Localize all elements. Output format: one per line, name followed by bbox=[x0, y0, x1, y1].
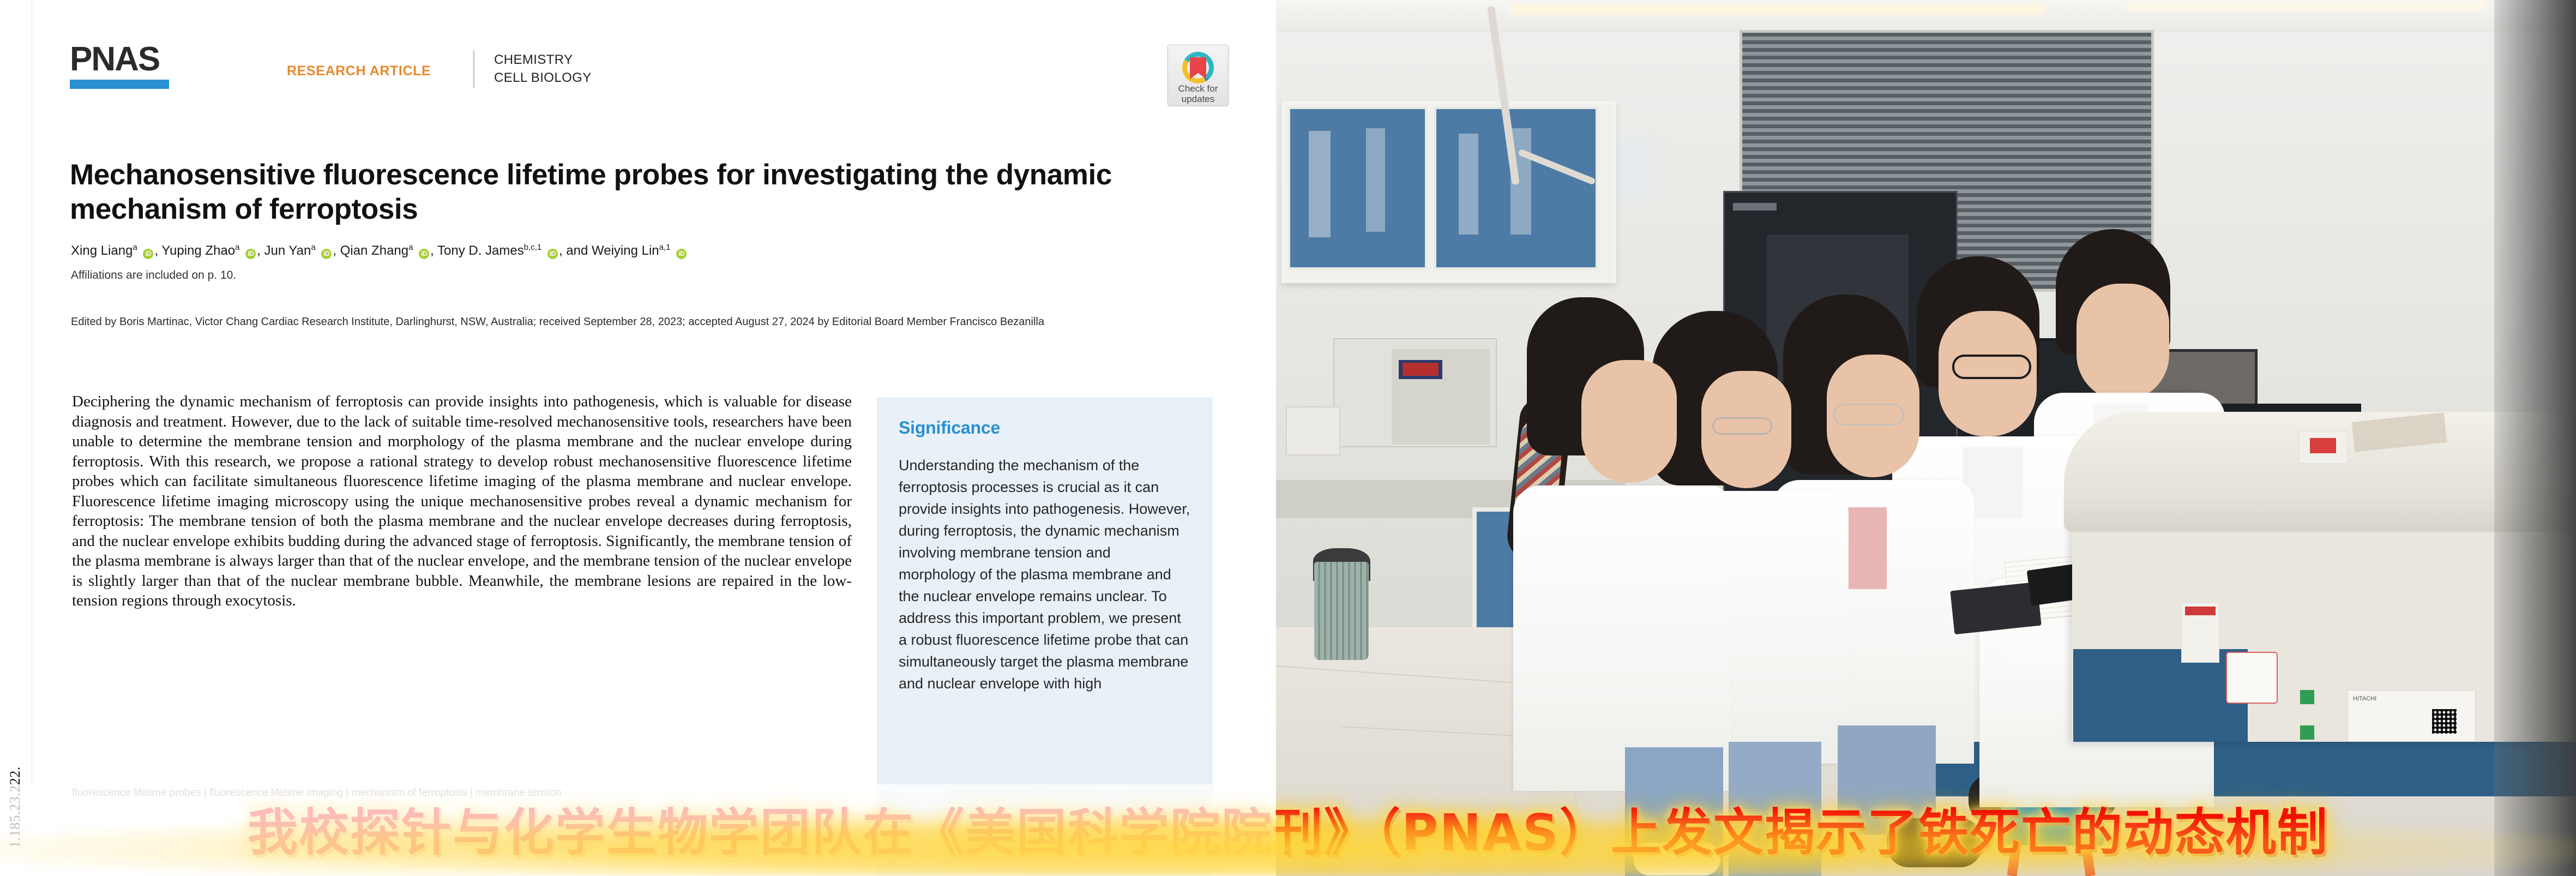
mouse-pad bbox=[1950, 582, 2041, 634]
pnas-wordmark: PNAS bbox=[70, 43, 173, 76]
keyword-list: fluorescence lifetime probes | fluoresce… bbox=[72, 785, 852, 800]
student-2-glasses-icon bbox=[1712, 417, 1772, 435]
instrument-blue-band bbox=[2073, 649, 2248, 742]
author-list: Xing Lianga iD, Yuping Zhaoa iD, Jun Yan… bbox=[71, 239, 1194, 260]
cabinet-glass-3 bbox=[1459, 134, 1478, 235]
ceiling-light-secondary-icon bbox=[2127, 1, 2487, 11]
cabinet-glass-1 bbox=[1309, 131, 1331, 237]
cabinet-glass-2 bbox=[1366, 128, 1385, 232]
instrument-led-1 bbox=[2300, 690, 2314, 704]
student-3-inner-top bbox=[1843, 507, 1887, 589]
crossmark-line2: updates bbox=[1168, 94, 1228, 104]
instrument-sticker-2 bbox=[2226, 652, 2278, 704]
instrument-sticker-1 bbox=[2181, 603, 2219, 663]
significance-box: Significance Understanding the mechanism… bbox=[877, 397, 1213, 876]
crossmark-line1: Check for bbox=[1168, 83, 1228, 94]
abstract-text: Deciphering the dynamic mechanism of fer… bbox=[72, 392, 852, 611]
student-4-glasses-icon bbox=[1952, 355, 2031, 379]
crossmark-label: Check for updates bbox=[1168, 83, 1228, 104]
subject-cell-biology[interactable]: CELL BIOLOGY bbox=[494, 69, 592, 87]
significance-heading: Significance bbox=[899, 418, 1191, 438]
pnas-logo[interactable]: PNAS bbox=[70, 43, 173, 89]
article-type-kicker: RESEARCH ARTICLE bbox=[287, 63, 431, 79]
ceiling-light-icon bbox=[1510, 3, 2045, 15]
kicker-divider bbox=[473, 50, 474, 88]
article-title: Mechanosensitive fluorescence lifetime p… bbox=[70, 158, 1193, 226]
masthead: PNAS RESEARCH ARTICLE CHEMISTRY CELL BIO… bbox=[70, 33, 1204, 98]
equipment-rack-label bbox=[1733, 203, 1777, 211]
pnas-blue-rule bbox=[70, 80, 169, 89]
student-5-face bbox=[2077, 284, 2169, 401]
subject-chemistry[interactable]: CHEMISTRY bbox=[494, 51, 592, 69]
student-1-lab-coat bbox=[1513, 485, 1731, 791]
student-1-shoes bbox=[1633, 843, 1720, 875]
student-3-shoes bbox=[1887, 818, 1982, 867]
significance-body: Understanding the mechanism of the ferro… bbox=[899, 454, 1191, 694]
instrument-brand-text: HITACHI bbox=[2353, 695, 2376, 703]
instrument-led-2 bbox=[2300, 725, 2314, 740]
editor-note: Edited by Boris Martinac, Victor Chang C… bbox=[71, 314, 1202, 330]
pnas-article-page: 1.185.23.222. PNAS RESEARCH ARTICLE CHEM… bbox=[0, 0, 1276, 876]
test-tube-rack bbox=[1286, 406, 1340, 455]
subject-list: CHEMISTRY CELL BIOLOGY bbox=[494, 51, 592, 87]
crossmark-badge[interactable]: Check for updates bbox=[1167, 45, 1229, 106]
qr-code-icon bbox=[2432, 709, 2457, 734]
red-label-on-instrument bbox=[2298, 431, 2348, 464]
student-2-jeans bbox=[1729, 742, 1821, 876]
student-3-glasses-icon bbox=[1833, 404, 1904, 425]
trash-bin bbox=[1314, 562, 1369, 660]
bench-instrument-readout bbox=[1403, 363, 1439, 376]
right-dark-wall bbox=[2494, 0, 2576, 876]
page-root: 1.185.23.222. PNAS RESEARCH ARTICLE CHEM… bbox=[0, 0, 2576, 876]
ip-stamp: 1.185.23.222. bbox=[7, 742, 23, 873]
student-1-face bbox=[1581, 360, 1677, 483]
affiliations-note: Affiliations are included on p. 10. bbox=[71, 269, 236, 282]
lab-team-photo: HITACHI bbox=[1276, 0, 2576, 876]
